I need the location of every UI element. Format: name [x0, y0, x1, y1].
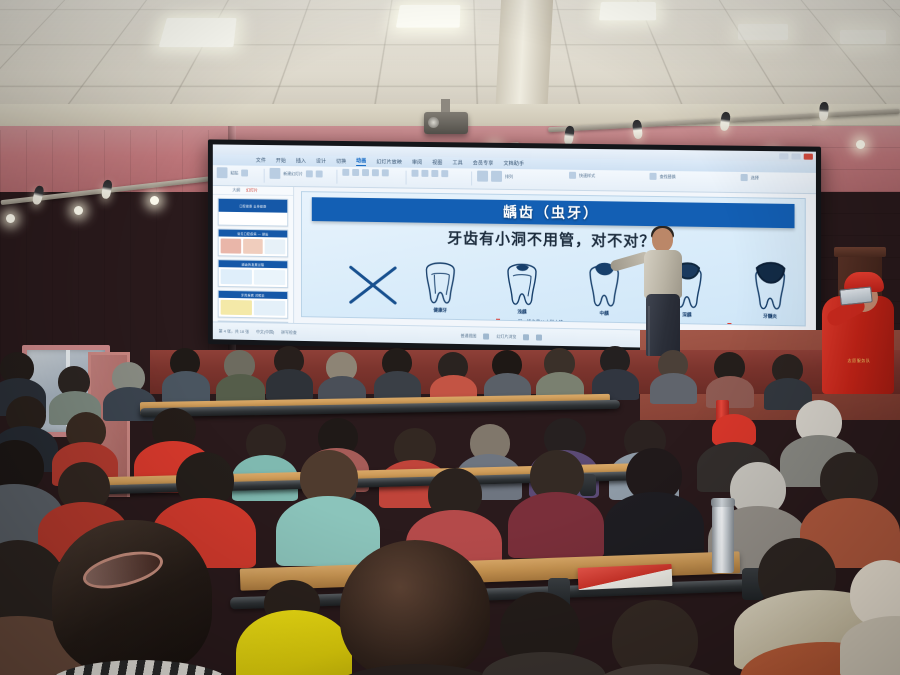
paste-label: 粘贴	[230, 170, 238, 176]
slide-title-text: 龋齿（虫牙）	[503, 202, 599, 223]
ceiling	[0, 0, 900, 120]
underline-icon[interactable]	[362, 169, 369, 176]
presenter	[632, 228, 694, 356]
slide-figure-note: 图1 龋齿是从小到大的	[518, 319, 563, 326]
tab-slideshow[interactable]: 幻灯片放映	[376, 158, 402, 165]
thumb-2-title: 常见口腔疾病 — 龋齿	[237, 231, 268, 235]
quick-style-label: 快速样式	[579, 172, 595, 178]
bold-icon[interactable]	[342, 169, 349, 176]
view-reading-icon[interactable]	[536, 334, 542, 340]
find-replace-label: 查找替换	[660, 173, 676, 179]
thumb-1-title: 口腔健康 全身健康	[239, 204, 266, 208]
thumb-table	[221, 300, 252, 315]
red-arrow-extraction	[725, 323, 732, 327]
thumb-3-title: 龋齿的发展过程	[242, 262, 265, 266]
downlight	[6, 214, 15, 223]
tab-transition[interactable]: 切换	[336, 158, 346, 165]
led-display-screen: 文件 开始 插入 设计 切换 动画 幻灯片放映 审阅 视图 工具 会员专享 文档…	[208, 139, 821, 356]
slide-counter: 第 4 张，共 18 张	[219, 328, 249, 335]
tooth-stage-row	[420, 250, 790, 317]
thumbnail-slide-4[interactable]: 牙周疾病 对照表	[218, 290, 289, 319]
downlight	[150, 196, 159, 205]
new-slide-icon[interactable]	[270, 168, 281, 179]
ceiling-projector	[424, 112, 468, 134]
language-indicator[interactable]: 中文(中国)	[256, 329, 274, 335]
select-icon[interactable]	[741, 174, 748, 181]
tab-file[interactable]: 文件	[256, 157, 266, 164]
shoulders	[508, 492, 604, 558]
tab-insert[interactable]: 插入	[296, 157, 306, 164]
label-shallow: 浅龋	[502, 309, 542, 319]
red-arrow-filling	[494, 319, 501, 327]
arrange-icon[interactable]	[491, 171, 502, 182]
thumbnail-pane-header: 大纲 幻灯片	[213, 186, 293, 196]
cross-wrong-mark-icon	[343, 258, 402, 311]
thumb-image	[221, 238, 241, 253]
volunteer-photographer: 志愿服务队	[822, 262, 894, 394]
view-normal-icon[interactable]	[483, 333, 489, 339]
highlight-icon[interactable]	[382, 169, 389, 176]
presenter-leg-gap	[648, 306, 650, 356]
maximize-button[interactable]	[791, 153, 800, 159]
find-replace-icon[interactable]	[649, 173, 656, 180]
shoulders	[482, 652, 606, 675]
label-pulpitis: 牙髓炎	[750, 313, 791, 323]
thumb-diagram	[254, 270, 285, 285]
panel-light	[599, 2, 656, 20]
format-painter-icon[interactable]	[241, 169, 248, 176]
italic-icon[interactable]	[352, 169, 359, 176]
tab-assistant[interactable]: 文档助手	[503, 160, 524, 167]
tab-animation[interactable]: 动画	[356, 157, 366, 166]
left-wall	[0, 130, 232, 380]
jacket-text: 志愿服务队	[836, 358, 882, 364]
outline-tab-label[interactable]: 大纲	[232, 187, 240, 193]
quick-style-icon[interactable]	[569, 172, 576, 179]
bullets-icon[interactable]	[431, 170, 438, 177]
panel-light	[396, 5, 460, 28]
slide-question-text: 牙齿有小洞不用管，对不对？	[302, 225, 805, 254]
label-medium: 中龋	[584, 310, 624, 320]
thumbnail-slide-3[interactable]: 龋齿的发展过程	[218, 259, 289, 288]
head	[52, 520, 212, 675]
new-slide-label: 新建幻灯片	[283, 171, 303, 177]
paste-icon[interactable]	[217, 167, 228, 178]
presenter-head	[652, 228, 673, 252]
thumb-diagram	[221, 269, 252, 284]
head	[340, 540, 490, 675]
downlight	[856, 140, 865, 149]
panel-light	[738, 24, 788, 40]
thumb-image	[265, 239, 285, 254]
tab-home[interactable]: 开始	[276, 157, 286, 164]
numbering-icon[interactable]	[441, 170, 448, 177]
tab-design[interactable]: 设计	[316, 158, 326, 165]
thermos-cap[interactable]	[711, 498, 735, 507]
ceiling-beam	[495, 0, 553, 118]
thumbnail-slide-2[interactable]: 常见口腔疾病 — 龋齿	[218, 229, 289, 258]
shapes-icon[interactable]	[477, 171, 488, 182]
tab-tools[interactable]: 工具	[452, 159, 462, 166]
yellow-jacket	[236, 610, 352, 675]
thumb-4-title: 牙周疾病 对照表	[241, 293, 265, 297]
thumb-image	[243, 239, 263, 254]
close-button[interactable]	[804, 154, 813, 160]
view-sorter-label[interactable]: 幻灯片浏览	[496, 333, 516, 339]
slide-thumbnail-pane[interactable]: 大纲 幻灯片 口腔健康 全身健康 常见口腔疾病 — 龋齿 龋齿的发展过程	[213, 186, 294, 323]
layout-icon[interactable]	[306, 170, 313, 177]
thumbnail-slide-1[interactable]: 口腔健康 全身健康	[218, 198, 289, 227]
shoulders	[706, 376, 754, 408]
shoulders	[162, 371, 210, 403]
shoulders	[266, 369, 313, 400]
align-center-icon[interactable]	[421, 170, 428, 177]
stainless-steel-thermos[interactable]	[712, 505, 734, 573]
panel-light	[159, 18, 237, 47]
view-sorter-icon[interactable]	[523, 334, 529, 340]
tab-member[interactable]: 会员专享	[473, 160, 494, 167]
spell-check-indicator[interactable]: 拼写检查	[281, 329, 297, 335]
view-normal-label[interactable]: 普通视图	[461, 333, 477, 339]
slide-canvas[interactable]: 龋齿（虫牙） 牙齿有小洞不用管，对不对？	[301, 191, 806, 326]
tooth-pulpitis	[750, 261, 791, 316]
arrange-label: 排列	[505, 173, 513, 179]
shoulders	[604, 492, 704, 560]
font-color-icon[interactable]	[372, 169, 379, 176]
projector-lens	[428, 117, 439, 128]
shoulders	[650, 373, 697, 404]
panel-light	[840, 30, 886, 44]
downlight	[74, 206, 83, 215]
minimize-button[interactable]	[779, 153, 788, 159]
section-icon[interactable]	[316, 170, 323, 177]
label-healthy: 健康牙	[420, 307, 460, 317]
slides-tab-label[interactable]: 幻灯片	[246, 187, 258, 193]
shoulders	[592, 664, 722, 675]
smartphone[interactable]	[839, 286, 872, 305]
select-label: 选择	[751, 175, 759, 181]
align-left-icon[interactable]	[412, 170, 419, 177]
slide-title-banner: 龋齿（虫牙）	[312, 197, 795, 228]
lectern-top	[834, 247, 886, 257]
shoulders	[276, 496, 380, 566]
tooth-shallow-caries	[502, 257, 542, 312]
lecture-hall-photo: 文件 开始 插入 设计 切换 动画 幻灯片放映 审阅 视图 工具 会员专享 文档…	[0, 0, 900, 675]
red-health-brochure[interactable]	[578, 564, 673, 590]
shoulders	[328, 664, 508, 675]
thumb-table	[254, 300, 285, 315]
tab-review[interactable]: 审阅	[412, 159, 422, 166]
tooth-healthy	[420, 256, 460, 311]
tab-view[interactable]: 视图	[432, 159, 442, 166]
presenter-torso	[644, 250, 682, 298]
screen-surface: 文件 开始 插入 设计 切换 动画 幻灯片放映 审阅 视图 工具 会员专享 文档…	[213, 144, 816, 351]
presenter-legs	[646, 294, 680, 356]
